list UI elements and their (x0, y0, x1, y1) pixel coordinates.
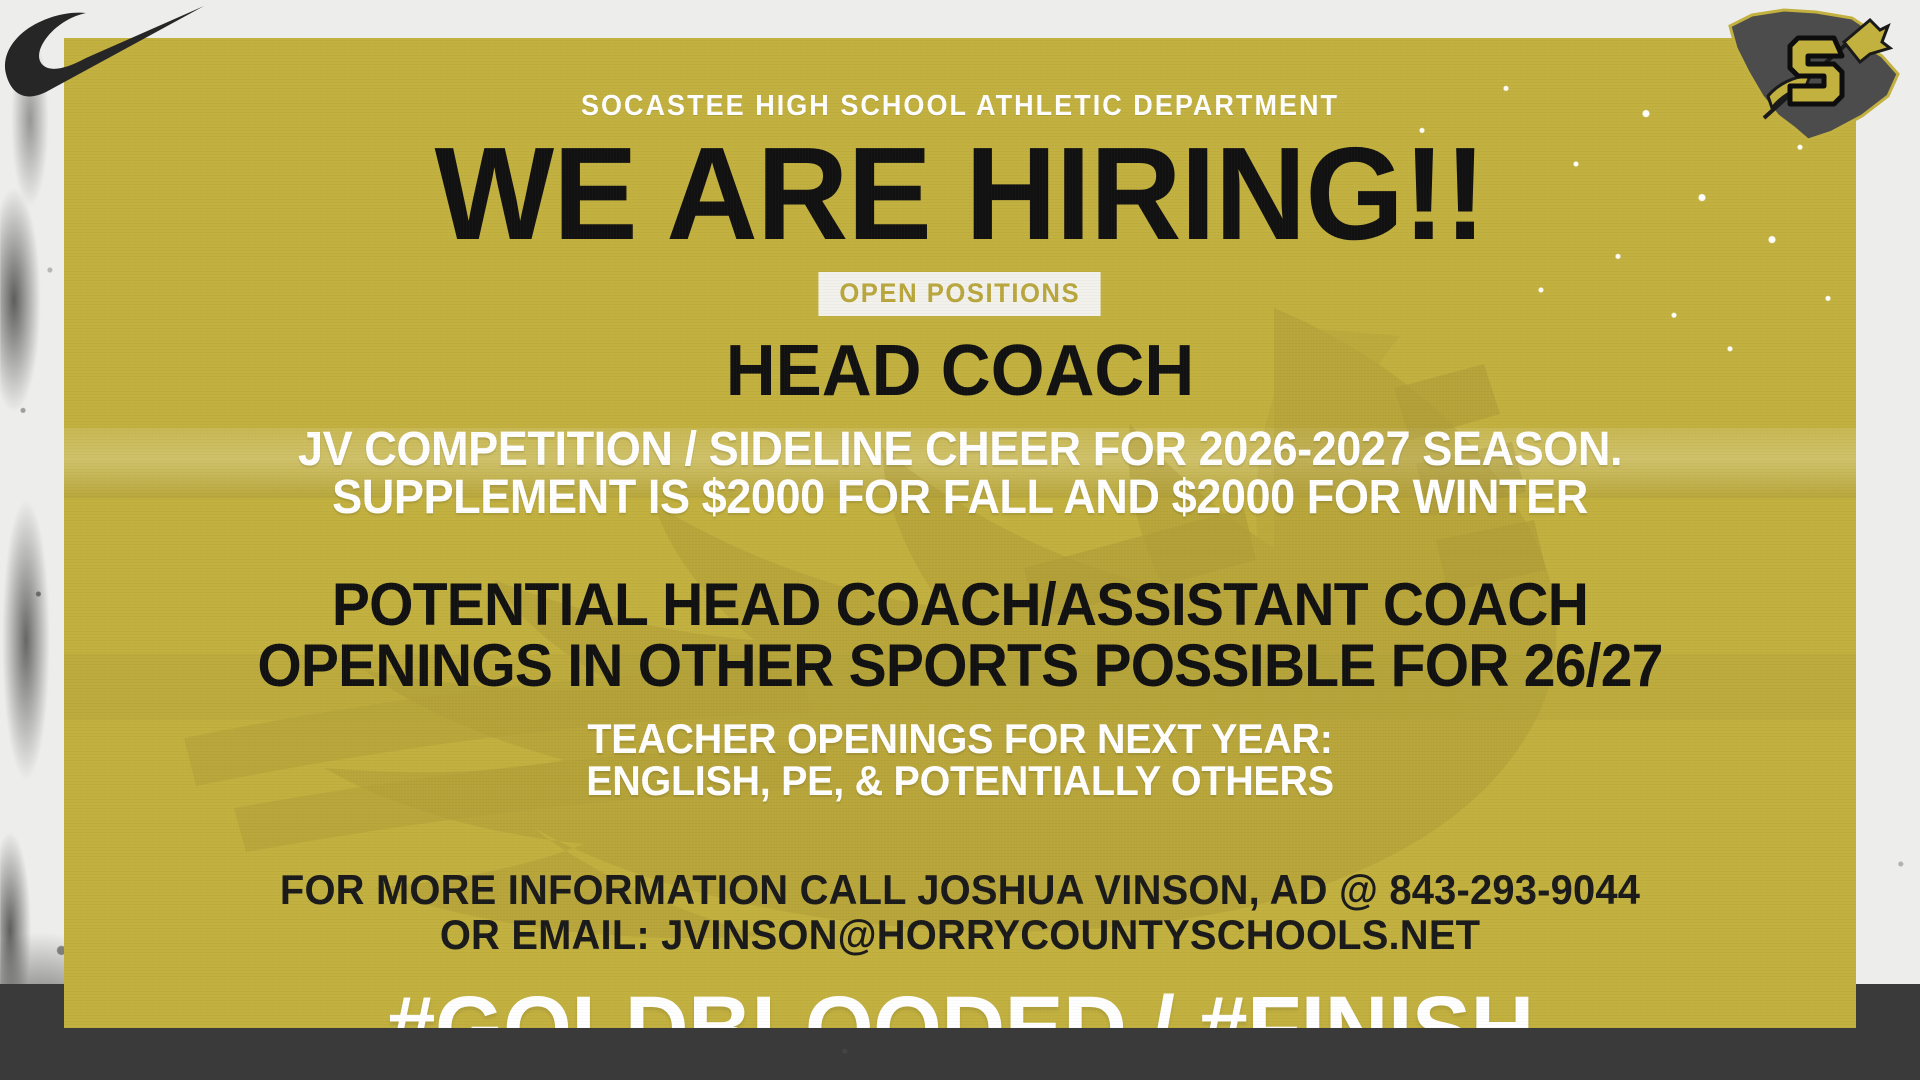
contact-email-line: OR EMAIL: JVINSON@HORRYCOUNTYSCHOOLS.NET (109, 913, 1811, 958)
headline: WE ARE HIRING!! (100, 131, 1820, 258)
grunge-left-edge (0, 0, 72, 1080)
open-positions-badge: OPEN POSITIONS (819, 272, 1102, 316)
teacher-openings-line-1: TEACHER OPENINGS FOR NEXT YEAR: (118, 718, 1802, 760)
teacher-openings-line-2: ENGLISH, PE, & POTENTIALLY OTHERS (118, 760, 1802, 802)
teacher-openings: TEACHER OPENINGS FOR NEXT YEAR: ENGLISH,… (118, 718, 1802, 802)
hiring-poster: SOCASTEE HIGH SCHOOL ATHLETIC DEPARTMENT… (0, 0, 1920, 1080)
position-detail-line-2: SUPPLEMENT IS $2000 FOR FALL AND $2000 F… (118, 474, 1802, 522)
contact-phone-line: FOR MORE INFORMATION CALL JOSHUA VINSON,… (109, 868, 1811, 913)
position-detail-line-1: JV COMPETITION / SIDELINE CHEER FOR 2026… (118, 426, 1802, 474)
position-details: JV COMPETITION / SIDELINE CHEER FOR 2026… (118, 426, 1802, 522)
department-eyebrow: SOCASTEE HIGH SCHOOL ATHLETIC DEPARTMENT (127, 90, 1794, 123)
nike-swoosh-icon (0, 2, 210, 102)
other-sports-openings: POTENTIAL HEAD COACH/ASSISTANT COACH OPE… (109, 574, 1811, 696)
contact-info: FOR MORE INFORMATION CALL JOSHUA VINSON,… (109, 868, 1811, 957)
other-sports-line-2: OPENINGS IN OTHER SPORTS POSSIBLE FOR 26… (109, 635, 1811, 696)
socastee-braves-logo-icon (1712, 0, 1912, 150)
position-title: HEAD COACH (100, 330, 1820, 412)
poster-content: SOCASTEE HIGH SCHOOL ATHLETIC DEPARTMENT… (64, 38, 1856, 1028)
gold-panel: SOCASTEE HIGH SCHOOL ATHLETIC DEPARTMENT… (64, 38, 1856, 1028)
open-positions-badge-wrap: OPEN POSITIONS (64, 272, 1856, 316)
other-sports-line-1: POTENTIAL HEAD COACH/ASSISTANT COACH (109, 574, 1811, 635)
hashtags: #GOLDBLOODED / #FINISH (100, 977, 1820, 1028)
